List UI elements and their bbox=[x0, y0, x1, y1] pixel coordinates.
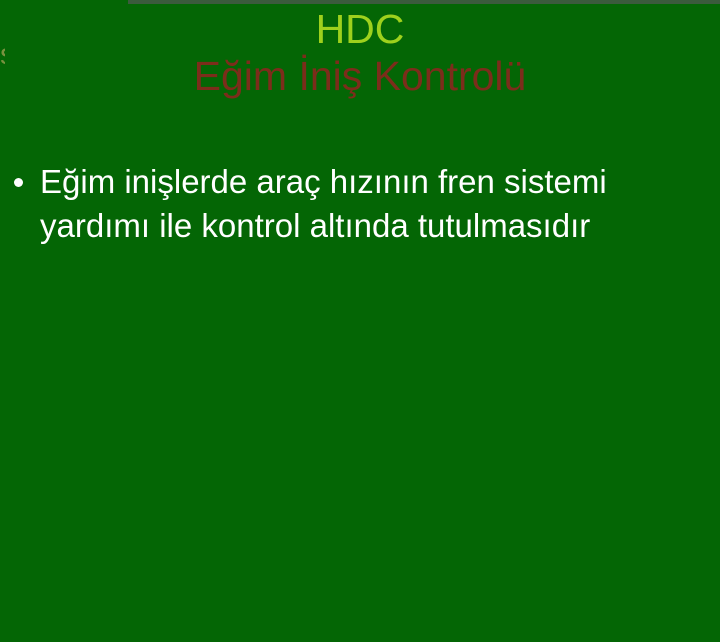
slide-title-main: HDC bbox=[0, 0, 720, 52]
slide-title-block: HDC Eğim İniş Kontrolü bbox=[0, 0, 720, 100]
slide-title-subtitle: Eğim İniş Kontrolü bbox=[0, 52, 720, 100]
bullet-dot-icon bbox=[14, 178, 23, 187]
bullet-line-1: Eğim inişlerde araç hızının fren sistemi bbox=[40, 163, 607, 200]
list-item: Eğim inişlerde araç hızının fren sistemi… bbox=[0, 160, 720, 248]
bullet-list: Eğim inişlerde araç hızının fren sistemi… bbox=[0, 160, 720, 248]
presentation-slide: ş HDC Eğim İniş Kontrolü Eğim inişlerde … bbox=[0, 0, 720, 642]
bullet-line-2: yardımı ile kontrol altında tutulmasıdır bbox=[40, 207, 590, 244]
slide-body: Eğim inişlerde araç hızının fren sistemi… bbox=[0, 160, 720, 248]
